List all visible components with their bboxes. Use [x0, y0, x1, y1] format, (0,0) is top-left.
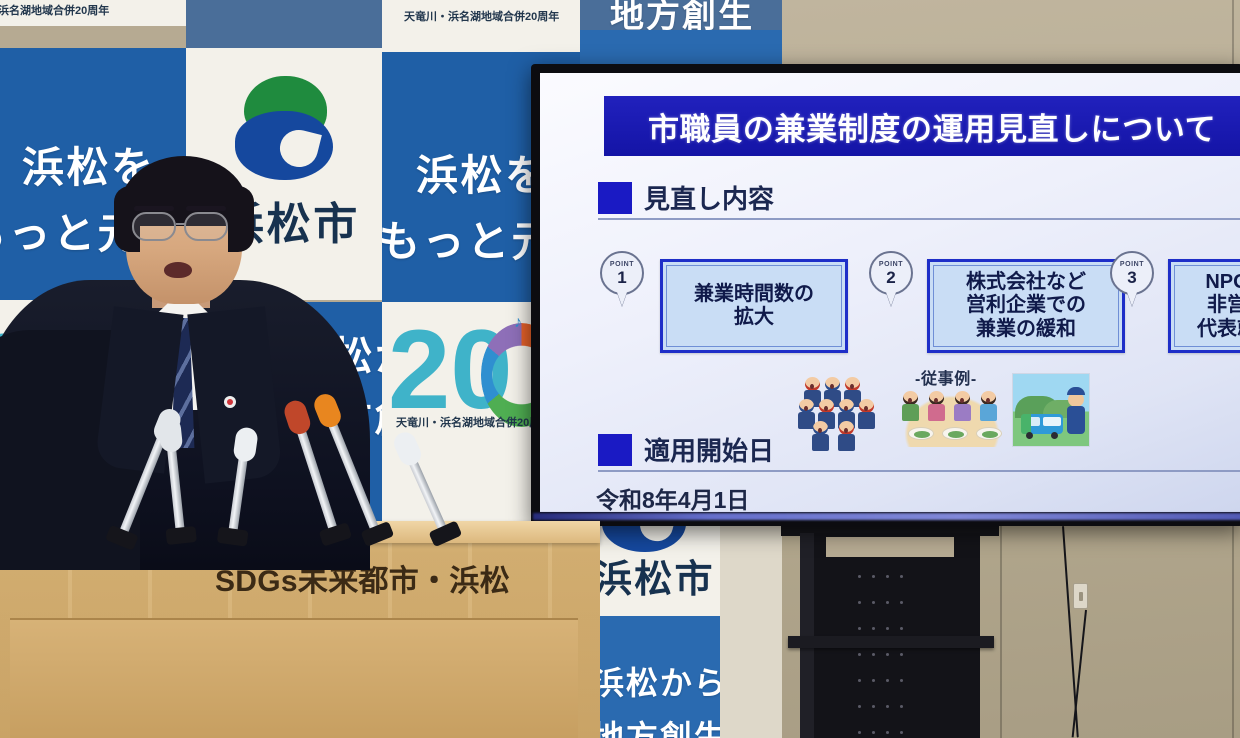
- choir-group-illustration: [798, 377, 894, 447]
- anniversary-caption-2: 天竜川・浜名湖地域合併20周年: [404, 8, 559, 24]
- presentation-monitor: 市職員の兼業制度の運用見直しについて 見直し内容 POINT 1: [531, 64, 1240, 526]
- slogan-line1-b: 浜松を: [416, 142, 550, 203]
- point-box-1: 兼業時間数の 拡大: [660, 259, 848, 353]
- bus-driver-illustration: [1012, 373, 1090, 447]
- point-line: 代表就任の緩和: [1197, 318, 1240, 341]
- flag-pin: [224, 396, 236, 408]
- eyeglasses-right: [184, 212, 228, 241]
- backdrop-tile: [186, 0, 382, 48]
- bullet-square-icon: [598, 182, 632, 214]
- screenshot-root: 天竜川・浜名湖地域合併20周年 天竜川・浜名湖地域合併20周年 地方創生 浜松を…: [0, 0, 1240, 738]
- point-badge-3: POINT 3: [1110, 251, 1154, 295]
- tv-stand-shelf: [788, 636, 994, 648]
- section-rule: [598, 218, 1240, 220]
- backdrop-tile: 浜松から 地方創生: [580, 616, 720, 738]
- point-line: 兼業時間数の: [694, 283, 814, 306]
- point-badge-number: 3: [1127, 269, 1136, 286]
- point-box-2: 株式会社など 営利企業での 兼業の緩和: [927, 259, 1125, 353]
- slide-title: 市職員の兼業制度の運用見直しについて: [648, 104, 1216, 149]
- anniversary-caption: 天竜川・浜名湖地域合併20周年: [0, 2, 109, 18]
- point-badge-number: 1: [617, 269, 626, 286]
- point-box-3: NPO法人など 非営利団体の 代表就任の緩和: [1168, 259, 1240, 353]
- point-badge-label: POINT: [879, 261, 903, 268]
- wall-seam: [1000, 510, 1002, 738]
- presentation-slide: 市職員の兼業制度の運用見直しについて 見直し内容 POINT 1: [540, 73, 1240, 512]
- music-note-icon: ♪: [514, 314, 522, 332]
- wall-outlet: [1073, 583, 1088, 609]
- slide-title-bar: 市職員の兼業制度の運用見直しについて: [604, 96, 1240, 156]
- point-line: 株式会社など: [966, 271, 1086, 294]
- monitor-screen: 市職員の兼業制度の運用見直しについて 見直し内容 POINT 1: [540, 73, 1240, 512]
- city-name-2: 浜松市: [594, 548, 715, 603]
- slogan2-line1-b: 浜松から: [592, 658, 720, 704]
- points-row: POINT 1 兼業時間数の 拡大 POINT: [592, 249, 1240, 361]
- tv-stand-slot: [826, 537, 954, 557]
- section-label-2: 適用開始日: [644, 431, 774, 468]
- top-banner-text: 地方創生: [610, 0, 754, 30]
- point-badge-label: POINT: [610, 261, 634, 268]
- point-badge-number: 2: [886, 269, 895, 286]
- bullet-square-icon-2: [598, 434, 632, 466]
- illustration-strip: [798, 369, 1090, 449]
- backdrop-tile: 天竜川・浜名湖地域合併20周年: [382, 0, 580, 52]
- backdrop-edge: [720, 504, 782, 738]
- point-line: 営利企業での: [966, 294, 1086, 317]
- start-date-text: 令和8年4月1日: [596, 481, 749, 512]
- screen-edge-glow: [533, 513, 1240, 520]
- section-heading-start-date: 適用開始日: [598, 431, 774, 468]
- section-heading-revision: 見直し内容: [598, 179, 774, 216]
- point-line: 非営利団体の: [1207, 294, 1240, 317]
- backdrop-tile: 地方創生: [580, 0, 782, 30]
- slogan2-line2-b: 地方創生: [592, 712, 720, 738]
- point-badge-label: POINT: [1120, 261, 1144, 268]
- point-line: 兼業の緩和: [976, 318, 1076, 341]
- section-label: 見直し内容: [644, 179, 774, 216]
- section-rule-2: [598, 470, 1240, 472]
- eyeglasses-left: [132, 212, 176, 241]
- anniversary-caption-4: 天竜川・浜名湖地域合併20周年: [396, 414, 551, 430]
- backdrop-tile: 天竜川・浜名湖地域合併20周年: [0, 0, 186, 26]
- point-badge-1: POINT 1: [600, 251, 644, 295]
- point-line: 拡大: [734, 306, 774, 329]
- cooking-food-illustration: [894, 387, 1010, 447]
- sdgs-pin: [222, 342, 237, 357]
- point-line: NPO法人など: [1205, 271, 1240, 294]
- point-badge-2: POINT 2: [869, 251, 913, 295]
